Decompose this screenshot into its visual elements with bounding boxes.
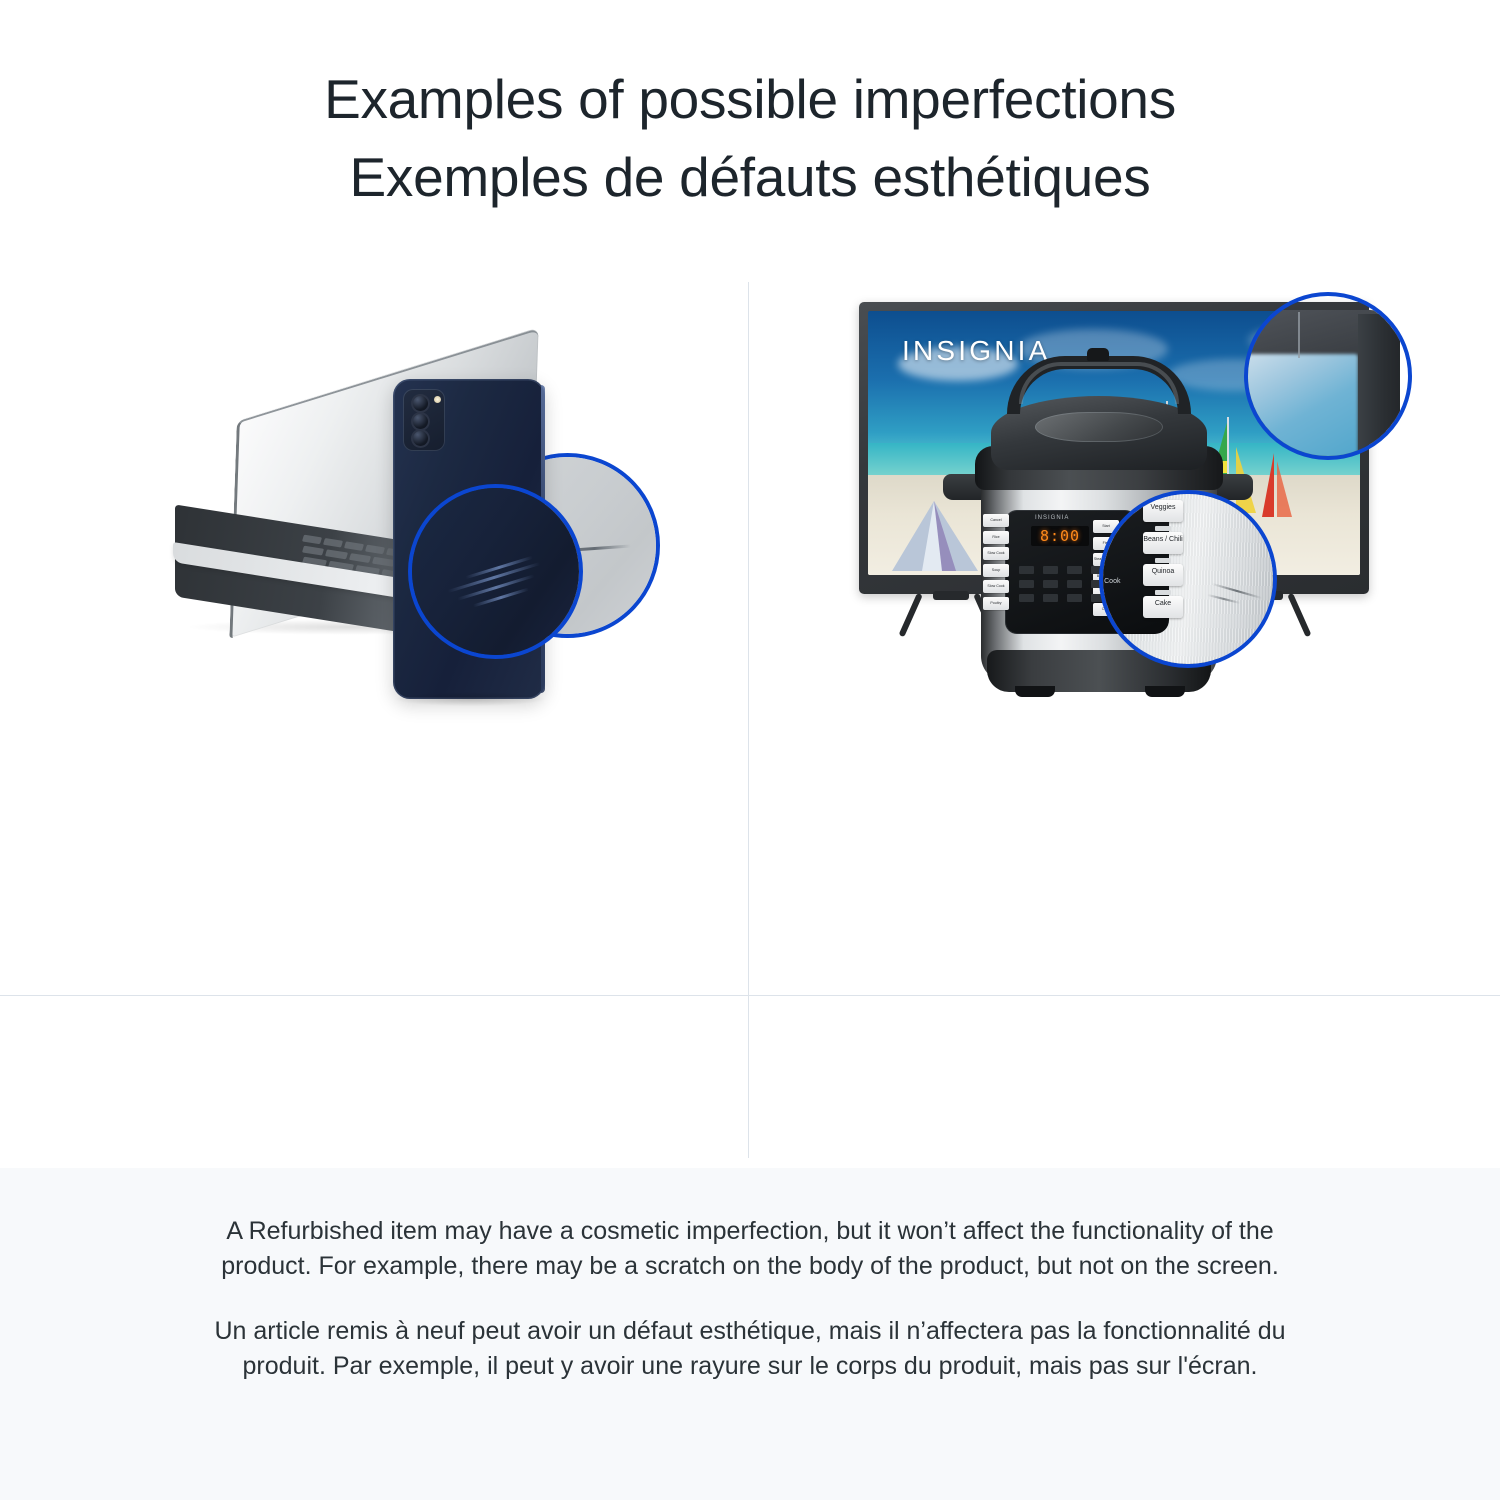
- cooker-foot: [1015, 686, 1055, 697]
- phone-shadow: [395, 692, 545, 706]
- quadrant-phone: [0, 996, 748, 1170]
- page-title: Examples of possible imperfections Exemp…: [0, 60, 1500, 216]
- disclaimer-panel: A Refurbished item may have a cosmetic i…: [0, 1168, 1500, 1500]
- cooker-button[interactable]: Soup: [983, 564, 1009, 577]
- page-title-french: Exemples de défauts esthétiques: [0, 138, 1500, 216]
- disclaimer-english: A Refurbished item may have a cosmetic i…: [180, 1214, 1320, 1284]
- cooker-display-value: 8:00: [1040, 527, 1080, 545]
- product-examples-grid: INSIGNIA: [0, 270, 1500, 1170]
- cooker-button[interactable]: Slow Cook: [983, 580, 1009, 593]
- cooker-button[interactable]: Poultry: [983, 597, 1009, 610]
- cooker-left-button-column: Cancel Rice Slow Cook Soup Slow Cook Pou…: [983, 514, 1009, 613]
- page-title-english: Examples of possible imperfections: [0, 60, 1500, 138]
- camera-lens-icon: [411, 429, 430, 448]
- magnifier-phone-scratches: [408, 484, 583, 659]
- magnifier-cooker-left-label: Slow Cook: [1099, 578, 1120, 585]
- cooker-button[interactable]: Rice: [983, 531, 1009, 544]
- cooker-lcd-display: 8:00: [1031, 526, 1089, 546]
- magnifier-cooker-scratch: Delay Slow Cook Veggies Beans / Chili Qu…: [1099, 490, 1277, 668]
- cooker-illustration: INSIGNIA 8:00 Cancel Rice Slow Cook Soup…: [749, 336, 1500, 766]
- cooker-lid-plate: [1035, 412, 1163, 442]
- camera-flash-icon: [434, 396, 441, 403]
- cooker-device: INSIGNIA 8:00 Cancel Rice Slow Cook Soup…: [949, 350, 1249, 710]
- magnifier-cooker-button[interactable]: Cake: [1143, 596, 1183, 618]
- magnifier-phone-surface: [408, 484, 583, 659]
- cooker-button[interactable]: Cancel: [983, 514, 1009, 527]
- magnifier-cooker-button[interactable]: Beans / Chili: [1143, 532, 1183, 554]
- cooker-foot: [1145, 686, 1185, 697]
- phone-illustration: [0, 336, 748, 766]
- cooker-brand-text: INSIGNIA: [1035, 515, 1069, 521]
- phone-camera-module: [403, 389, 445, 451]
- quadrant-pressure-cooker: INSIGNIA 8:00 Cancel Rice Slow Cook Soup…: [749, 996, 1500, 1170]
- cooker-handle-highlight: [1019, 362, 1179, 404]
- cooker-button[interactable]: Slow Cook: [983, 547, 1009, 560]
- refurbished-imperfections-infographic: Examples of possible imperfections Exemp…: [0, 0, 1500, 1500]
- magnifier-cooker-button[interactable]: Veggies: [1143, 500, 1183, 522]
- camera-lens-icon: [411, 394, 430, 413]
- cooker-pressure-valve-icon: [1087, 348, 1109, 361]
- magnifier-cooker-button[interactable]: Quinoa: [1143, 564, 1183, 586]
- disclaimer-french: Un article remis à neuf peut avoir un dé…: [180, 1314, 1320, 1384]
